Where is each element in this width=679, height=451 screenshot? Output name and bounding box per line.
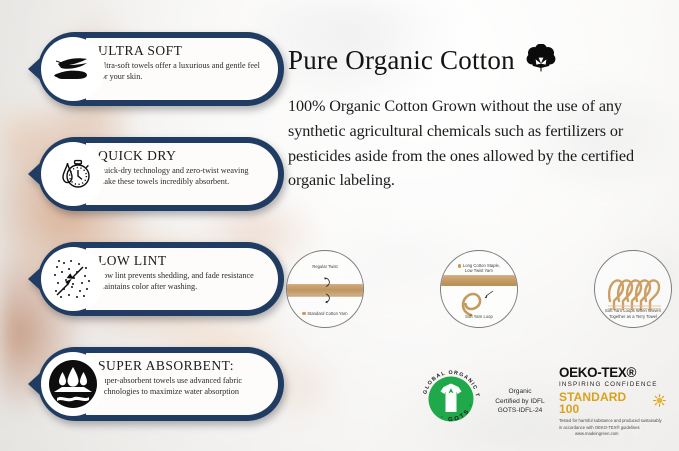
headline-row: Pure Organic Cotton (288, 44, 556, 77)
oekotex-subtitle: INSPIRING CONFIDENCE (559, 382, 666, 388)
oekotex-block: OEKO-TEX® INSPIRING CONFIDENCE STANDARD … (556, 366, 666, 436)
yarn-label-top: Long Cotton Staple, Low Twist Yarn (441, 263, 517, 274)
yarn-label-bottom-text: Standard Cotton Yarn (307, 311, 347, 316)
sun-burst-icon (653, 394, 666, 412)
gots-caption-line1: Organic (491, 387, 549, 397)
feature-pill-ultra-soft[interactable]: ULTRA SOFT Ultra-soft towels offer a lux… (28, 32, 284, 106)
page-title: Pure Organic Cotton (288, 45, 515, 76)
marker-dot-icon (302, 312, 305, 315)
feature-description: Low lint prevents shedding, and fade res… (98, 270, 267, 292)
oekotex-fine-print: Tested for harmful substance and produce… (559, 418, 665, 436)
feature-pill-low-lint[interactable]: LOW LINT Low lint prevents shedding, and… (28, 242, 284, 316)
feature-list: ULTRA SOFT Ultra-soft towels offer a lux… (28, 32, 284, 421)
feature-description: Super-absorbent towels use advanced fabr… (98, 375, 267, 397)
yarn-label-bottom: Soft Yarn Loop (441, 314, 517, 319)
feature-title: LOW LINT (98, 254, 267, 268)
feature-title: ULTRA SOFT (98, 44, 267, 58)
gots-caption-line3: GOTS-IDFL-24 (491, 406, 549, 416)
oekotex-fine-print-text: Tested for harmful substance and produce… (559, 418, 662, 429)
pill-text-area: ULTRA SOFT Ultra-soft towels offer a lux… (86, 38, 278, 100)
oekotex-standard: STANDARD 100 (559, 391, 649, 415)
yarn-label-top-text: Long Cotton Staple, Low Twist Yarn (463, 263, 500, 273)
yarn-diagram-low-twist: Long Cotton Staple, Low Twist Yarn Soft … (440, 250, 518, 328)
lint-particles-icon (41, 247, 105, 311)
feather-on-hand-icon (41, 37, 105, 101)
oekotex-standard-row: STANDARD 100 (559, 391, 666, 415)
pill-text-area: LOW LINT Low lint prevents shedding, and… (86, 248, 278, 310)
feature-title: QUICK DRY (98, 149, 267, 163)
feature-description: Quick-dry technology and zero-twist weav… (98, 165, 267, 187)
gots-caption-line2: Certified by IDFL (491, 397, 549, 407)
marker-dot-icon (458, 264, 461, 267)
water-absorption-icon (41, 352, 105, 416)
certification-row: GLOBAL ORGANIC TEXTILE STANDARD · GOTS ·… (418, 366, 666, 437)
cotton-boll-icon (526, 44, 556, 77)
feature-pill-super-absorbent[interactable]: SUPER ABSORBENT: Super-absorbent towels … (28, 347, 284, 421)
oekotex-url: www.madeingreen.com (575, 431, 619, 436)
gots-seal-icon: GLOBAL ORGANIC TEXTILE STANDARD · GOTS · (418, 366, 484, 437)
pill-text-area: SUPER ABSORBENT: Super-absorbent towels … (86, 353, 278, 415)
yarn-label-bottom: Standard Cotton Yarn (287, 311, 363, 316)
pill-text-area: QUICK DRY Quick-dry technology and zero-… (86, 143, 278, 205)
feature-description: Ultra-soft towels offer a luxurious and … (98, 60, 267, 82)
yarn-diagram-row: Regular Twist Standard Cotton Yarn (286, 250, 672, 328)
feature-title: SUPER ABSORBENT: (98, 359, 267, 373)
yarn-diagram-regular-twist: Regular Twist Standard Cotton Yarn (286, 250, 364, 328)
yarn-diagram-terry-loops: Soft Yarn Loops When Woven Together as a… (594, 250, 672, 328)
gots-caption: Organic Certified by IDFL GOTS-IDFL-24 (491, 387, 549, 417)
infographic-page: ULTRA SOFT Ultra-soft towels offer a lux… (0, 0, 679, 451)
yarn-label-top: Regular Twist (287, 264, 363, 269)
body-copy: 100% Organic Cotton Grown without the us… (288, 94, 670, 193)
yarn-label-bottom: Soft Yarn Loops When Woven Together as a… (595, 308, 671, 319)
oekotex-title: OEKO-TEX® (559, 366, 666, 379)
feature-pill-quick-dry[interactable]: QUICK DRY Quick-dry technology and zero-… (28, 137, 284, 211)
stopwatch-waterdrop-icon (41, 142, 105, 206)
